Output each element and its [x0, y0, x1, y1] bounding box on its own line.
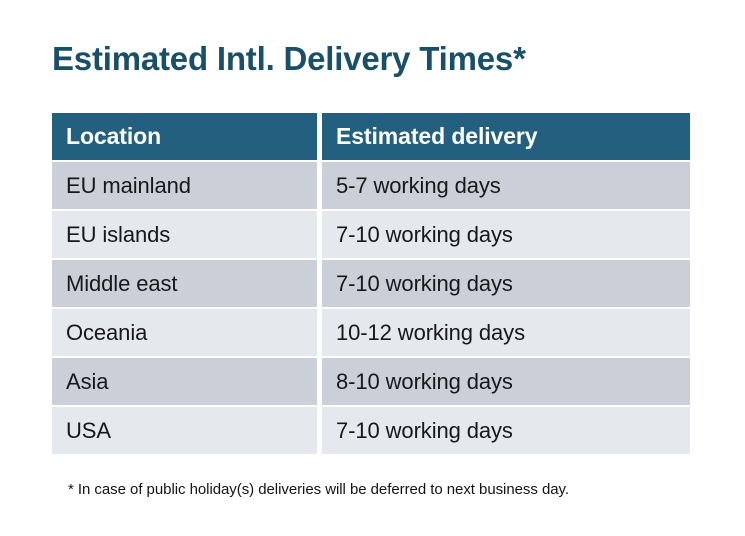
cell-delivery: 10-12 working days: [322, 309, 690, 356]
table-header-row: Location Estimated delivery: [52, 113, 690, 160]
delivery-times-table: Location Estimated delivery EU mainland …: [52, 113, 690, 456]
table-row: USA 7-10 working days: [52, 407, 690, 454]
footnote: * In case of public holiday(s) deliverie…: [68, 481, 569, 498]
cell-delivery: 5-7 working days: [322, 162, 690, 209]
cell-location: Middle east: [52, 260, 317, 307]
cell-location: EU mainland: [52, 162, 317, 209]
table-row: EU mainland 5-7 working days: [52, 162, 690, 209]
cell-delivery: 7-10 working days: [322, 407, 690, 454]
table-row: Asia 8-10 working days: [52, 358, 690, 405]
page-title: Estimated Intl. Delivery Times*: [52, 38, 526, 80]
cell-location: Oceania: [52, 309, 317, 356]
cell-delivery: 7-10 working days: [322, 260, 690, 307]
cell-location: USA: [52, 407, 317, 454]
cell-delivery: 8-10 working days: [322, 358, 690, 405]
table-row: Oceania 10-12 working days: [52, 309, 690, 356]
cell-delivery: 7-10 working days: [322, 211, 690, 258]
column-header-location: Location: [52, 113, 317, 160]
table-row: EU islands 7-10 working days: [52, 211, 690, 258]
table-row: Middle east 7-10 working days: [52, 260, 690, 307]
cell-location: EU islands: [52, 211, 317, 258]
cell-location: Asia: [52, 358, 317, 405]
delivery-times-card: Estimated Intl. Delivery Times* Location…: [0, 0, 745, 536]
column-header-estimated-delivery: Estimated delivery: [322, 113, 690, 160]
